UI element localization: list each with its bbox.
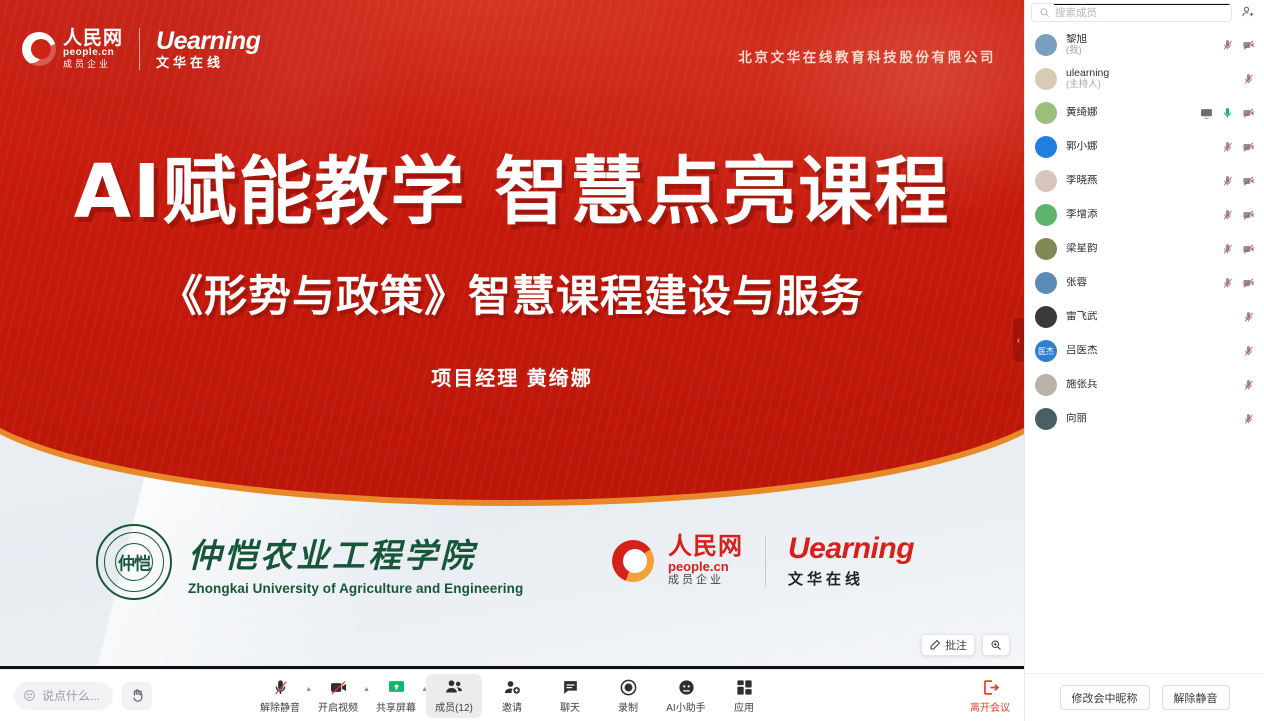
invite-icon — [503, 678, 522, 697]
slide-presenter: 项目经理 黄绮娜 — [0, 362, 1024, 391]
toolbar-item-record[interactable]: 录制 — [600, 674, 656, 718]
participant-name-block: 黎旭(我) — [1066, 34, 1212, 57]
participant-status-icons — [1242, 310, 1255, 324]
mic-muted-icon[interactable] — [1221, 174, 1234, 188]
leave-meeting-label: 离开会议 — [970, 699, 1010, 714]
stage-column: 人民网 people.cn 成员企业 Uearning 文华在线 北京文华在线教… — [0, 0, 1024, 721]
search-input[interactable]: 搜索成员 — [1031, 3, 1232, 22]
participant-status-icons — [1242, 344, 1255, 358]
panel-collapse-handle[interactable]: ‹ — [1013, 318, 1024, 362]
avatar — [1035, 102, 1057, 124]
leave-icon — [981, 678, 1000, 697]
participant-row[interactable]: 雷飞武 — [1025, 300, 1264, 334]
logo-divider-footer — [765, 535, 766, 587]
slide-tool-buttons: 批注 — [921, 634, 1010, 656]
toolbar-label-share-screen: 共享屏幕 — [376, 699, 416, 714]
ulearning-name-cn-footer: 文华在线 — [788, 568, 914, 589]
apps-icon — [735, 678, 754, 697]
participant-row[interactable]: 张蓉 — [1025, 266, 1264, 300]
mic-muted-icon[interactable] — [1242, 344, 1255, 358]
toolbar-item-start-video[interactable]: 开启视频 ▲ — [310, 674, 366, 718]
search-placeholder: 搜索成员 — [1055, 5, 1097, 20]
participant-status-icons — [1221, 38, 1255, 52]
participant-name: 吕医杰 — [1066, 345, 1233, 357]
slide-header-logos: 人民网 people.cn 成员企业 Uearning 文华在线 — [22, 28, 260, 70]
participants-search-row: 搜索成员 — [1025, 0, 1264, 24]
search-icon — [1039, 7, 1050, 18]
ulearning-name-footer: earning — [809, 532, 914, 565]
participant-name: 黄绮娜 — [1066, 107, 1191, 119]
avatar — [1035, 408, 1057, 430]
toolbar-label-chat: 聊天 — [560, 699, 580, 714]
avatar — [1035, 170, 1057, 192]
ulearning-logo-footer: Uearning 文华在线 — [788, 532, 914, 589]
raise-hand-button[interactable] — [122, 682, 152, 710]
participant-name: 李增添 — [1066, 209, 1212, 221]
participant-name-block: 吕医杰 — [1066, 345, 1233, 357]
avatar — [1035, 204, 1057, 226]
participant-status-icons — [1242, 378, 1255, 392]
leave-meeting-button[interactable]: 离开会议 — [970, 678, 1010, 714]
participant-role-tag: (我) — [1066, 46, 1212, 56]
participant-name: 黎旭 — [1066, 34, 1212, 46]
participant-name: 梁星韵 — [1066, 243, 1212, 255]
participant-name: 李晓燕 — [1066, 175, 1212, 187]
camera-off-icon[interactable] — [1242, 276, 1255, 290]
people-cn-mark-icon — [22, 32, 56, 66]
participant-name-block: 梁星韵 — [1066, 243, 1212, 255]
participant-name-block: ulearning(主持人) — [1066, 68, 1233, 91]
mic-muted-icon[interactable] — [1242, 412, 1255, 426]
toolbar-label-apps: 应用 — [734, 699, 754, 714]
avatar — [1035, 68, 1057, 90]
mic-on-icon[interactable] — [1221, 106, 1234, 120]
participant-status-icons — [1221, 208, 1255, 222]
participant-name: 雷飞武 — [1066, 311, 1233, 323]
screen-share-icon[interactable] — [1200, 106, 1213, 120]
participant-name: 向丽 — [1066, 413, 1233, 425]
participant-status-icons — [1221, 276, 1255, 290]
camera-off-icon[interactable] — [1242, 106, 1255, 120]
university-name-cn: 仲恺农业工程学院 — [188, 529, 523, 577]
people-cn-domain: people.cn — [63, 48, 123, 58]
toolbar-item-unmute[interactable]: 解除静音 ▲ — [252, 674, 308, 718]
people-cn-name-footer: 人民网 — [668, 534, 743, 559]
mic-muted-icon[interactable] — [1221, 38, 1234, 52]
change-nickname-button[interactable]: 修改会中昵称 — [1060, 685, 1150, 710]
university-name-en: Zhongkai University of Agriculture and E… — [188, 581, 523, 596]
participant-name: ulearning — [1066, 68, 1233, 80]
say-something-input[interactable]: 说点什么... — [14, 682, 113, 710]
participant-row[interactable]: 郭小娜 — [1025, 130, 1264, 164]
participant-row[interactable]: ulearning(主持人) — [1025, 62, 1264, 96]
meeting-app: 人民网 people.cn 成员企业 Uearning 文华在线 北京文华在线教… — [0, 0, 1264, 721]
camera-off-icon — [329, 678, 348, 697]
toolbar-label-unmute: 解除静音 — [260, 699, 300, 714]
participant-status-icons — [1221, 140, 1255, 154]
mic-muted-icon[interactable] — [1221, 208, 1234, 222]
participant-name-block: 张蓉 — [1066, 277, 1212, 289]
slide-header: 人民网 people.cn 成员企业 Uearning 文华在线 北京文华在线教… — [0, 0, 1024, 92]
toolbar-item-chat[interactable]: 聊天 — [542, 674, 598, 718]
participant-name-block: 李晓燕 — [1066, 175, 1212, 187]
participant-row[interactable]: 李增添 — [1025, 198, 1264, 232]
mic-muted-icon[interactable] — [1221, 276, 1234, 290]
participant-status-icons — [1242, 72, 1255, 86]
participant-name-block: 施张兵 — [1066, 379, 1233, 391]
zhongkai-university-logo: 仲恺 仲恺农业工程学院 Zhongkai University of Agric… — [96, 524, 523, 600]
toolbar-label-ai-assistant: AI小助手 — [666, 699, 705, 714]
ulearning-u-icon-footer: U — [788, 532, 809, 565]
toolbar-item-share-screen[interactable]: 共享屏幕 ▲ — [368, 674, 424, 718]
record-icon — [619, 678, 638, 697]
participant-status-icons — [1242, 412, 1255, 426]
mic-muted-icon[interactable] — [1242, 378, 1255, 392]
unmute-button[interactable]: 解除静音 — [1162, 685, 1230, 710]
camera-off-icon[interactable] — [1242, 174, 1255, 188]
avatar — [1035, 136, 1057, 158]
toolbar-item-invite[interactable]: 邀请 — [484, 674, 540, 718]
ulearning-u-icon: U — [156, 27, 174, 55]
shared-slide[interactable]: 人民网 people.cn 成员企业 Uearning 文华在线 北京文华在线教… — [0, 0, 1024, 666]
toolbar-item-ai-assistant[interactable]: AI小助手 — [658, 674, 714, 718]
add-person-icon[interactable] — [1238, 2, 1258, 22]
camera-off-icon[interactable] — [1242, 208, 1255, 222]
university-seal-text: 仲恺 — [118, 550, 150, 575]
participant-name-block: 雷飞武 — [1066, 311, 1233, 323]
raise-hand-icon — [130, 688, 145, 703]
participant-name-block: 向丽 — [1066, 413, 1233, 425]
participant-status-icons — [1221, 242, 1255, 256]
people-cn-mark-icon-footer — [612, 540, 654, 582]
mic-muted-icon[interactable] — [1242, 72, 1255, 86]
participant-row[interactable]: 黎旭(我) — [1025, 28, 1264, 62]
slide-title-sub: 《形势与政策》智慧课程建设与服务 — [0, 262, 1024, 324]
footer-brand-logos: 人民网 people.cn 成员企业 Uearning 文华在线 — [612, 532, 914, 589]
say-something-placeholder: 说点什么... — [42, 687, 100, 704]
meeting-toolbar: 说点什么... 解除静音 ▲ — [0, 669, 1024, 721]
ulearning-logo: Uearning 文华在线 — [156, 29, 260, 70]
members-icon — [444, 678, 464, 697]
mic-muted-icon[interactable] — [1221, 140, 1234, 154]
mic-muted-icon[interactable] — [1242, 310, 1255, 324]
avatar — [1035, 34, 1057, 56]
toolbar-label-start-video: 开启视频 — [318, 699, 358, 714]
avatar: 医杰 — [1035, 340, 1057, 362]
participant-row[interactable]: 梁星韵 — [1025, 232, 1264, 266]
toolbar-item-apps[interactable]: 应用 — [716, 674, 772, 718]
toolbar-center-group: 解除静音 ▲ 开启视频 ▲ 共享屏幕 ▲ — [252, 674, 772, 718]
slide-title-main: AI赋能教学 智慧点亮课程 — [0, 132, 1024, 239]
participant-row[interactable]: 医杰吕医杰 — [1025, 334, 1264, 368]
share-screen-icon — [387, 678, 406, 697]
avatar — [1035, 272, 1057, 294]
avatar — [1035, 306, 1057, 328]
people-cn-subtitle-footer: 成员企业 — [668, 575, 743, 587]
toolbar-label-members: 成员(12) — [435, 699, 473, 714]
magnifier-plus-icon — [990, 639, 1002, 651]
mic-muted-icon — [271, 678, 290, 697]
participant-name-block: 黄绮娜 — [1066, 107, 1191, 119]
participant-status-icons — [1221, 174, 1255, 188]
participant-name: 郭小娜 — [1066, 141, 1212, 153]
annotate-label: 批注 — [945, 637, 967, 653]
people-cn-subtitle: 成员企业 — [63, 60, 123, 69]
chat-icon — [561, 678, 580, 697]
people-cn-name: 人民网 — [63, 29, 123, 48]
ulearning-name-cn: 文华在线 — [156, 56, 260, 69]
panel-footer: 修改会中昵称 解除静音 — [1025, 673, 1264, 721]
participant-name: 施张兵 — [1066, 379, 1233, 391]
people-cn-logo: 人民网 people.cn 成员企业 — [22, 29, 123, 70]
slide-footer-logos: 仲恺 仲恺农业工程学院 Zhongkai University of Agric… — [0, 516, 1024, 636]
participant-name-block: 郭小娜 — [1066, 141, 1212, 153]
participant-row[interactable]: 施张兵 — [1025, 368, 1264, 402]
emoji-icon — [23, 689, 36, 702]
participant-name: 张蓉 — [1066, 277, 1212, 289]
pen-icon — [929, 639, 941, 651]
participants-panel: 搜索成员 黎旭(我)ulearning(主持人)黄绮娜郭小娜李晓燕李增添梁星韵张… — [1024, 0, 1264, 721]
university-seal-icon: 仲恺 — [96, 524, 172, 600]
logo-divider — [139, 28, 140, 70]
toolbar-left-group: 说点什么... — [14, 682, 152, 710]
camera-off-icon[interactable] — [1242, 242, 1255, 256]
avatar — [1035, 238, 1057, 260]
zoom-in-button[interactable] — [982, 634, 1010, 656]
ulearning-name: earning — [174, 27, 261, 55]
mic-muted-icon[interactable] — [1221, 242, 1234, 256]
participant-status-icons — [1200, 106, 1255, 120]
toolbar-label-invite: 邀请 — [502, 699, 522, 714]
participant-row[interactable]: 李晓燕 — [1025, 164, 1264, 198]
participant-role-tag: (主持人) — [1066, 80, 1233, 90]
participant-row[interactable]: 黄绮娜 — [1025, 96, 1264, 130]
annotate-button[interactable]: 批注 — [921, 634, 975, 656]
camera-off-icon[interactable] — [1242, 140, 1255, 154]
camera-off-icon[interactable] — [1242, 38, 1255, 52]
participant-list[interactable]: 黎旭(我)ulearning(主持人)黄绮娜郭小娜李晓燕李增添梁星韵张蓉雷飞武医… — [1025, 24, 1264, 673]
participant-name-block: 李增添 — [1066, 209, 1212, 221]
ai-assistant-icon — [677, 678, 696, 697]
participant-row[interactable]: 向丽 — [1025, 402, 1264, 436]
people-cn-domain-footer: people.cn — [668, 560, 743, 574]
avatar — [1035, 374, 1057, 396]
toolbar-item-members[interactable]: 成员(12) — [426, 674, 482, 718]
corporate-name: 北京文华在线教育科技股份有限公司 — [738, 46, 996, 66]
toolbar-label-record: 录制 — [618, 699, 638, 714]
